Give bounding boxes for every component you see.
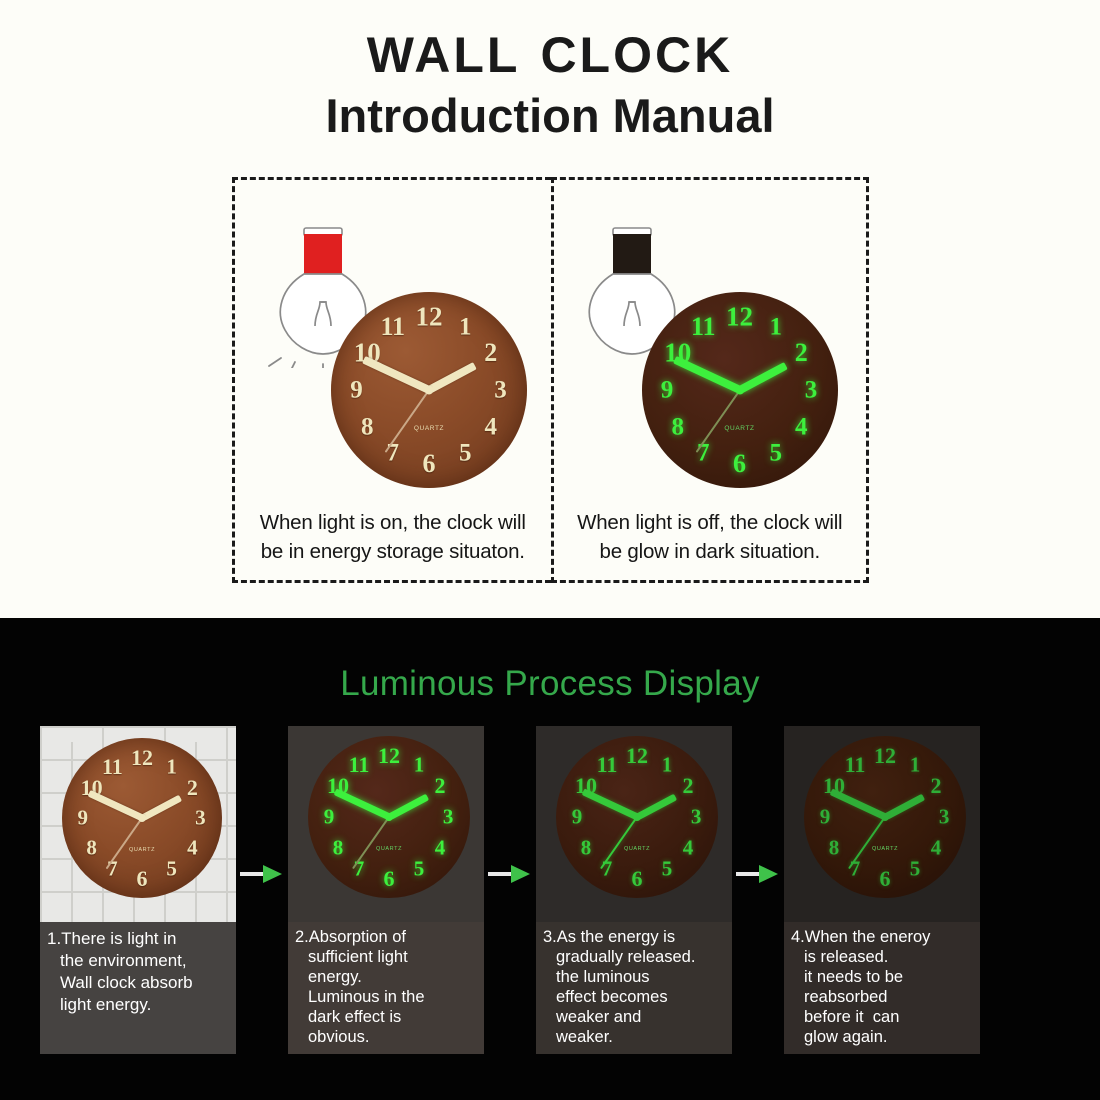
clock-numeral-8: 8 — [333, 837, 344, 858]
clock-numeral-1: 1 — [910, 755, 921, 776]
clock-numeral-3: 3 — [939, 807, 950, 828]
step-4-line-5: before it can — [791, 1008, 973, 1028]
clock-center-cap — [385, 813, 393, 821]
title-subtitle: Introduction Manual — [0, 88, 1100, 144]
panel-light-on-body: 12 1 2 3 4 5 6 7 8 9 10 11 QUARTZ — [235, 180, 551, 502]
panel-light-off-body: 12 1 2 3 4 5 6 7 8 9 10 11 QUARTZ — [554, 180, 867, 502]
step-1-line-4: light energy. — [47, 994, 229, 1016]
step-1-line-2: the environment, — [47, 950, 229, 972]
clock-numeral-6: 6 — [137, 868, 148, 890]
clock-numeral-11: 11 — [349, 754, 370, 776]
step-3-line-5: weaker and — [543, 1008, 725, 1028]
clock-numeral-4: 4 — [795, 415, 808, 440]
arrow-head-icon — [263, 865, 282, 883]
clock-numeral-2: 2 — [683, 775, 694, 797]
clock-center-cap — [633, 813, 641, 821]
process-arrow-1 — [236, 726, 288, 1054]
clock-numeral-1: 1 — [770, 315, 783, 340]
clock-numeral-6: 6 — [632, 868, 643, 890]
arrow-head-icon — [759, 865, 778, 883]
step-3-line-1: 3.As the energy is — [543, 928, 725, 948]
clock-numeral-11: 11 — [845, 754, 866, 776]
clock-numeral-8: 8 — [829, 837, 840, 858]
step-4-line-3: it needs to be — [791, 968, 973, 988]
clock-numeral-9: 9 — [78, 808, 89, 829]
step-4-text: 4.When the eneroy is released. it needs … — [784, 922, 980, 1054]
clock-face-glowing: 12 1 2 3 4 5 6 7 8 9 10 11 QUARTZ — [642, 292, 838, 488]
clock-numeral-11: 11 — [691, 314, 716, 340]
step-1-image: 12 1 2 3 4 5 6 7 8 9 10 11 QUARTZ — [40, 726, 236, 922]
clock-numeral-8: 8 — [86, 838, 97, 859]
process-step-4: 12 1 2 3 4 5 6 7 8 9 10 11 QUARTZ — [784, 726, 980, 1054]
clock-brand-label: QUARTZ — [624, 846, 650, 852]
clock-numeral-4: 4 — [435, 837, 446, 858]
clock-numeral-12: 12 — [726, 303, 753, 330]
clock-numeral-9: 9 — [324, 807, 335, 828]
clock-numeral-3: 3 — [443, 807, 454, 828]
luminous-section-title: Luminous Process Display — [0, 664, 1100, 704]
process-step-2: 12 1 2 3 4 5 6 7 8 9 10 11 QUARTZ — [288, 726, 484, 1054]
clock-numeral-6: 6 — [733, 451, 746, 477]
step-2-line-1: 2.Absorption of — [295, 928, 477, 948]
panel-light-off: 12 1 2 3 4 5 6 7 8 9 10 11 QUARTZ — [551, 177, 870, 583]
step-4-line-6: glow again. — [791, 1028, 973, 1048]
title-word-wall: WALL — [367, 27, 521, 83]
clock-numeral-12: 12 — [131, 747, 153, 769]
clock-center-cap — [735, 386, 744, 395]
clock-numeral-9: 9 — [350, 378, 363, 403]
step-3-line-3: the luminous — [543, 968, 725, 988]
step-3-image: 12 1 2 3 4 5 6 7 8 9 10 11 QUARTZ — [536, 726, 732, 922]
step-2-line-4: Luminous in the — [295, 988, 477, 1008]
clock-numeral-1: 1 — [662, 755, 673, 776]
caption-light-on: When light is on, the clock will be in e… — [235, 508, 551, 566]
process-arrow-2 — [484, 726, 536, 1054]
clock-numeral-4: 4 — [683, 837, 694, 858]
step-2-line-5: dark effect is — [295, 1008, 477, 1028]
process-step-3: 12 1 2 3 4 5 6 7 8 9 10 11 QUARTZ — [536, 726, 732, 1054]
step-2-image: 12 1 2 3 4 5 6 7 8 9 10 11 QUARTZ — [288, 726, 484, 922]
clock-numeral-3: 3 — [805, 378, 818, 403]
clock-numeral-3: 3 — [691, 807, 702, 828]
clock-numeral-2: 2 — [931, 775, 942, 797]
clock-numeral-12: 12 — [378, 745, 400, 767]
step-2-line-2: sufficient light — [295, 948, 477, 968]
step-4-image: 12 1 2 3 4 5 6 7 8 9 10 11 QUARTZ — [784, 726, 980, 922]
clock-numeral-2: 2 — [435, 775, 446, 797]
step-3-line-2: gradually released. — [543, 948, 725, 968]
caption-light-off-line2: be glow in dark situation. — [600, 540, 820, 563]
step-1-line-3: Wall clock absorb — [47, 972, 229, 994]
clock-numeral-12: 12 — [626, 745, 648, 767]
clock-numeral-5: 5 — [662, 858, 673, 879]
page-title: WALLCLOCK Introduction Manual — [0, 28, 1100, 144]
comparison-panels: 12 1 2 3 4 5 6 7 8 9 10 11 QUARTZ — [232, 177, 869, 583]
clock-face-glow-bright: 12 1 2 3 4 5 6 7 8 9 10 11 QUARTZ — [308, 736, 470, 898]
step-1-text: 1.There is light in the environment, Wal… — [40, 922, 236, 1054]
title-main: WALLCLOCK — [0, 28, 1100, 82]
caption-light-off-line1: When light is off, the clock will — [577, 511, 842, 534]
step-2-line-3: energy. — [295, 968, 477, 988]
step-2-line-6: obvious. — [295, 1028, 477, 1048]
clock-numeral-5: 5 — [770, 440, 783, 465]
clock-numeral-11: 11 — [597, 754, 618, 776]
clock-numeral-5: 5 — [910, 858, 921, 879]
clock-numeral-4: 4 — [931, 837, 942, 858]
clock-numeral-6: 6 — [423, 451, 436, 477]
clock-brand-label: QUARTZ — [414, 425, 444, 432]
clock-numeral-12: 12 — [416, 303, 443, 330]
step-4-line-1: 4.When the eneroy — [791, 928, 973, 948]
clock-numeral-8: 8 — [581, 837, 592, 858]
clock-numeral-5: 5 — [166, 859, 177, 880]
clock-brand-label: QUARTZ — [724, 425, 754, 432]
clock-numeral-8: 8 — [361, 415, 374, 440]
luminous-process-section: Luminous Process Display 12 1 2 3 4 5 6 … — [0, 618, 1100, 1100]
clock-numeral-9: 9 — [572, 807, 583, 828]
clock-numeral-4: 4 — [187, 838, 198, 859]
clock-numeral-12: 12 — [874, 745, 896, 767]
clock-brand-label: QUARTZ — [376, 846, 402, 852]
clock-numeral-2: 2 — [187, 777, 198, 799]
clock-numeral-1: 1 — [459, 315, 472, 340]
clock-numeral-9: 9 — [820, 807, 831, 828]
clock-numeral-8: 8 — [672, 415, 685, 440]
clock-numeral-6: 6 — [384, 868, 395, 890]
process-steps: 12 1 2 3 4 5 6 7 8 9 10 11 QUARTZ — [40, 726, 1060, 1066]
panel-light-on: 12 1 2 3 4 5 6 7 8 9 10 11 QUARTZ — [232, 177, 551, 583]
caption-light-on-line1: When light is on, the clock will — [260, 511, 526, 534]
clock-numeral-5: 5 — [414, 858, 425, 879]
clock-brand-label: QUARTZ — [872, 846, 898, 852]
step-3-line-4: effect becomes — [543, 988, 725, 1008]
caption-light-off: When light is off, the clock will be glo… — [554, 508, 867, 566]
clock-numeral-9: 9 — [661, 378, 674, 403]
step-4-line-4: reabsorbed — [791, 988, 973, 1008]
clock-face-lit: 12 1 2 3 4 5 6 7 8 9 10 11 QUARTZ — [331, 292, 527, 488]
clock-numeral-2: 2 — [484, 340, 497, 366]
step-3-line-6: weaker. — [543, 1028, 725, 1048]
clock-numeral-1: 1 — [414, 755, 425, 776]
clock-center-cap — [881, 813, 889, 821]
step-2-text: 2.Absorption of sufficient light energy.… — [288, 922, 484, 1054]
clock-numeral-5: 5 — [459, 440, 472, 465]
clock-numeral-2: 2 — [795, 340, 808, 366]
intro-section: WALLCLOCK Introduction Manual — [0, 0, 1100, 618]
step-3-text: 3.As the energy is gradually released. t… — [536, 922, 732, 1054]
step-4-line-2: is released. — [791, 948, 973, 968]
process-step-1: 12 1 2 3 4 5 6 7 8 9 10 11 QUARTZ — [40, 726, 236, 1054]
clock-numeral-3: 3 — [494, 378, 507, 403]
clock-numeral-4: 4 — [484, 415, 497, 440]
step-1-line-1: 1.There is light in — [47, 928, 229, 950]
clock-numeral-11: 11 — [380, 314, 405, 340]
arrow-head-icon — [511, 865, 530, 883]
title-word-clock: CLOCK — [540, 27, 733, 83]
clock-face-lit: 12 1 2 3 4 5 6 7 8 9 10 11 QUARTZ — [62, 738, 222, 898]
clock-numeral-3: 3 — [195, 808, 206, 829]
clock-numeral-6: 6 — [880, 868, 891, 890]
clock-face-glow-dim: 12 1 2 3 4 5 6 7 8 9 10 11 QUARTZ — [804, 736, 966, 898]
clock-numeral-11: 11 — [102, 756, 123, 778]
caption-light-on-line2: be in energy storage situaton. — [261, 540, 525, 563]
clock-brand-label: QUARTZ — [129, 847, 155, 853]
clock-numeral-1: 1 — [166, 756, 177, 777]
clock-center-cap — [425, 386, 434, 395]
clock-center-cap — [138, 814, 146, 822]
process-arrow-3 — [732, 726, 784, 1054]
clock-face-glow-medium: 12 1 2 3 4 5 6 7 8 9 10 11 QUARTZ — [556, 736, 718, 898]
